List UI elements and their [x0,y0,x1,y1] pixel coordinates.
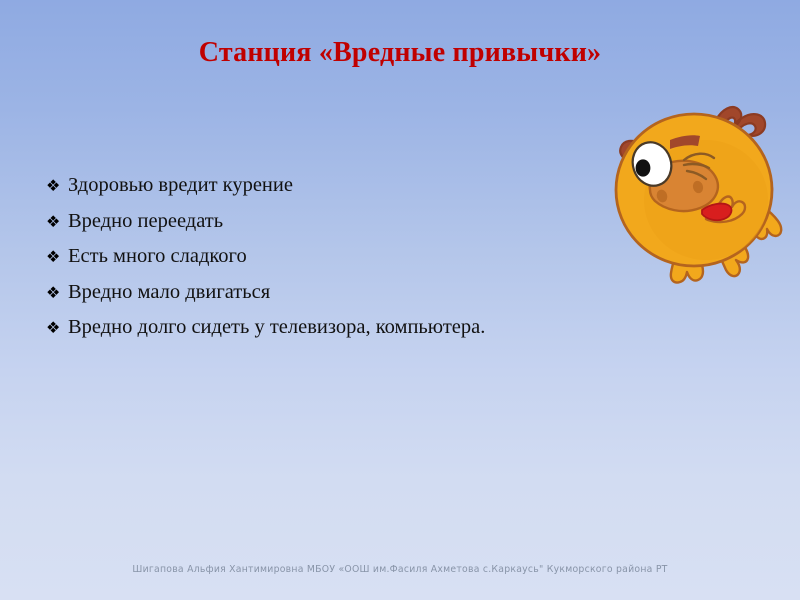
diamond-bullet-icon: ❖ [46,276,68,311]
list-item-label: Есть много сладкого [68,239,247,274]
list-item: ❖ Вредно мало двигаться [46,275,646,311]
footer-credit: Шигапова Альфия Хантимировна МБОУ «ООШ и… [0,563,800,576]
list-item-label: Вредно переедать [68,204,223,239]
list-item: ❖ Здоровью вредит курение [46,168,646,204]
diamond-bullet-icon: ❖ [46,240,68,275]
diamond-bullet-icon: ❖ [46,169,68,204]
cartoon-moose-illustration [588,52,800,296]
list-item-label: Вредно долго сидеть у телевизора, компью… [68,310,485,345]
list-item: ❖ Вредно долго сидеть у телевизора, комп… [46,310,646,346]
list-item: ❖ Есть много сладкого [46,239,646,275]
diamond-bullet-icon: ❖ [46,311,68,346]
list-item-label: Здоровью вредит курение [68,168,293,203]
cartoon-moose-image [588,52,800,296]
bullet-list: ❖ Здоровью вредит курение ❖ Вредно перее… [46,168,646,346]
diamond-bullet-icon: ❖ [46,205,68,240]
slide-canvas: Станция «Вредные привычки» ❖ Здоровью вр… [0,0,800,600]
left-eye-pupil-icon [636,159,651,176]
list-item-label: Вредно мало двигаться [68,275,270,310]
list-item: ❖ Вредно переедать [46,204,646,240]
